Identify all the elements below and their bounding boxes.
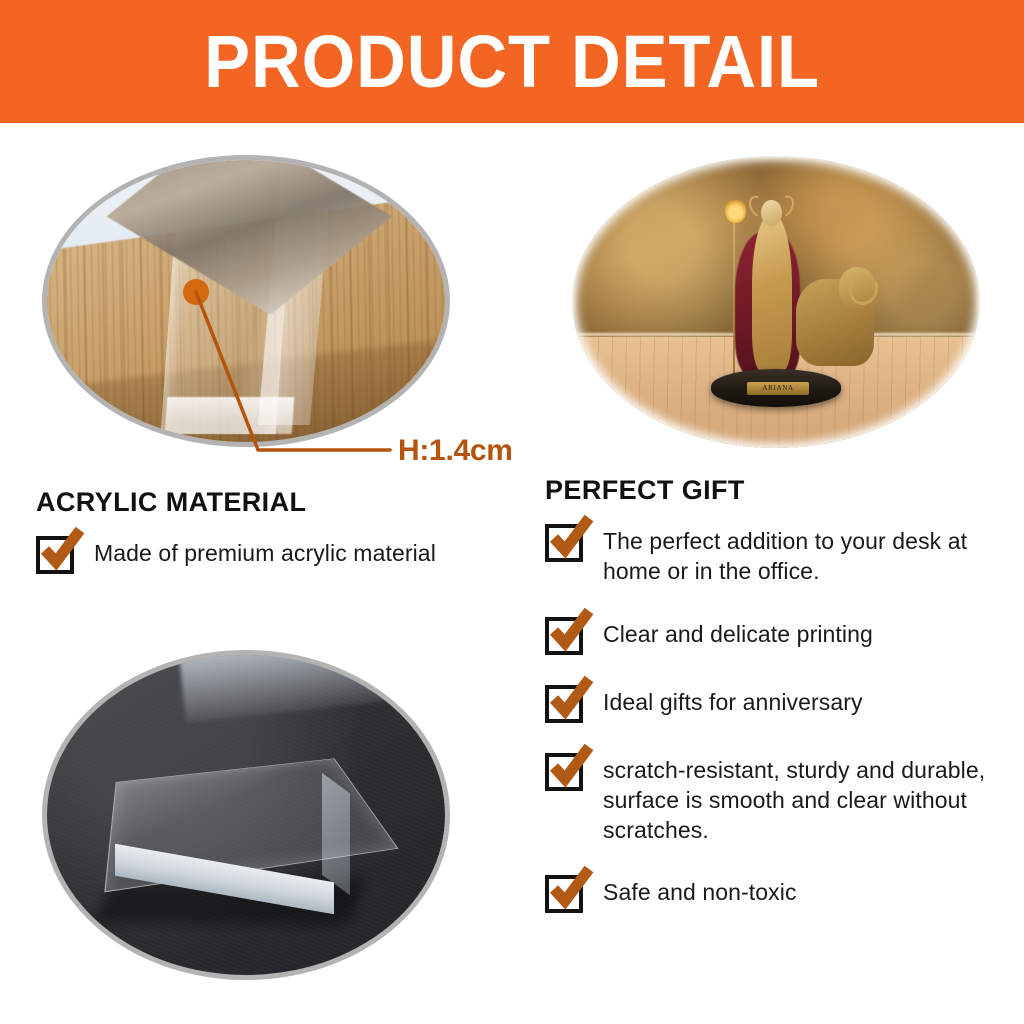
section-title-acrylic-material: ACRYLIC MATERIAL [36, 487, 516, 518]
checkmark-icon [36, 536, 74, 574]
callout-label: H:1.4cm [398, 434, 513, 468]
feature-item: Clear and delicate printing [545, 615, 1000, 655]
feature-text: Clear and delicate printing [603, 615, 873, 650]
acrylic-edge-photo [42, 155, 450, 447]
checkmark-icon [545, 617, 583, 655]
feature-item: The perfect addition to your desk at hom… [545, 522, 1000, 587]
section-perfect-gift: PERFECT GIFT The perfect addition to you… [545, 475, 1000, 941]
statue-staff-flame-icon [725, 197, 745, 223]
feature-text: Safe and non-toxic [603, 873, 797, 908]
checkmark-icon [545, 524, 583, 562]
statue-figure-body [752, 214, 793, 372]
page-title: PRODUCT DETAIL [204, 25, 820, 99]
acrylic-block-photo [42, 650, 450, 980]
statue-nameplate: ARIANA [747, 382, 808, 395]
feature-item: Safe and non-toxic [545, 873, 1000, 913]
feature-item: scratch-resistant, sturdy and durable, s… [545, 751, 1000, 846]
acrylic-slab-base [165, 397, 295, 434]
feature-item: Ideal gifts for anniversary [545, 683, 1000, 723]
section-acrylic-material: ACRYLIC MATERIAL Made of premium acrylic… [36, 487, 516, 596]
feature-text: The perfect addition to your desk at hom… [603, 522, 1000, 587]
section-title-perfect-gift: PERFECT GIFT [545, 475, 1000, 506]
checkmark-icon [545, 685, 583, 723]
feature-text: Ideal gifts for anniversary [603, 683, 863, 718]
statue-nameplate-text: ARIANA [762, 385, 793, 392]
feature-text: scratch-resistant, sturdy and durable, s… [603, 751, 1000, 846]
statue-photo: ARIANA [572, 156, 980, 448]
page-header-banner: PRODUCT DETAIL [0, 0, 1024, 123]
feature-text: Made of premium acrylic material [94, 534, 436, 569]
checkmark-icon [545, 753, 583, 791]
feature-item: Made of premium acrylic material [36, 534, 516, 574]
checkmark-icon [545, 875, 583, 913]
